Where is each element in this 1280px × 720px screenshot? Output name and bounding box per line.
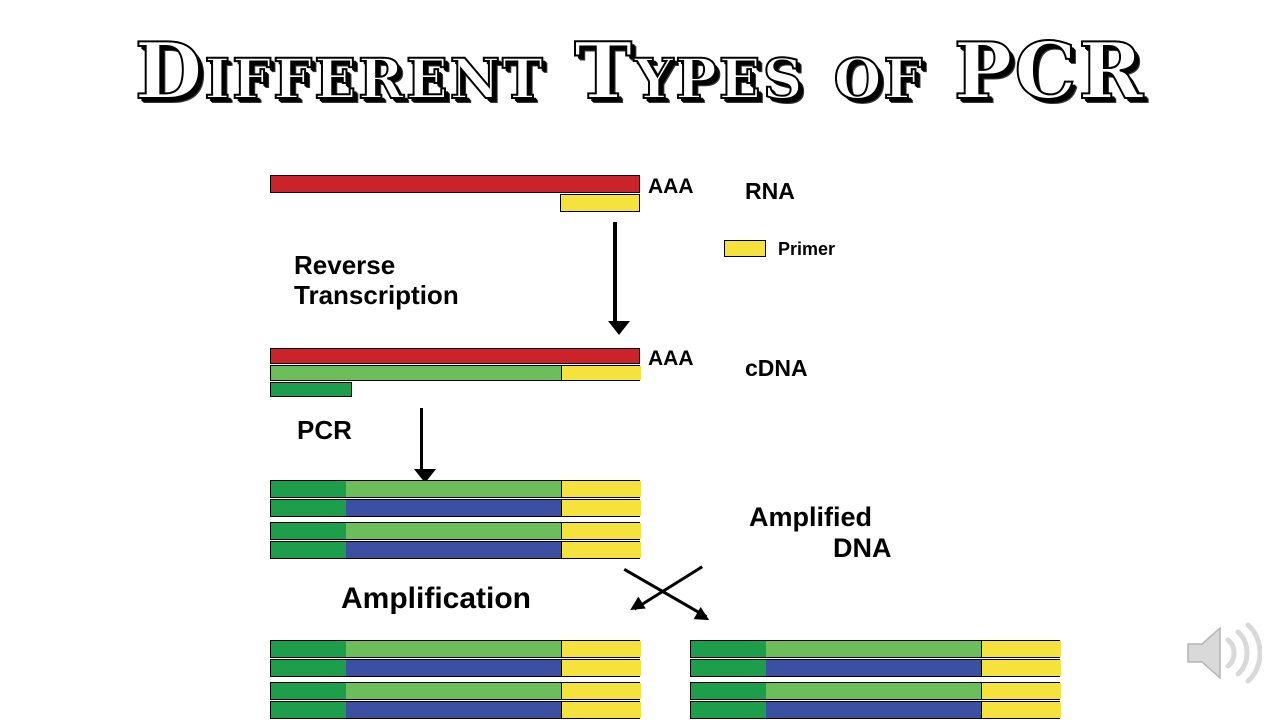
reverse-transcription-label-2: Transcription <box>294 280 459 311</box>
amplified-strand-1 <box>270 480 640 498</box>
amplified-strand-4-dark-green <box>271 542 346 558</box>
copy-left-strand-1 <box>270 640 640 658</box>
cdna-strand-red <box>270 348 640 364</box>
copy-left-strand-4 <box>270 701 640 719</box>
amplified-strand-3-primer <box>561 523 641 539</box>
amplified-dna-label-2: DNA <box>833 533 892 564</box>
amplified-strand-4 <box>270 541 640 559</box>
primer-legend-label: Primer <box>778 239 835 260</box>
copy-left-strand-1-primer <box>561 641 641 657</box>
amplification-label: Amplification <box>341 582 531 616</box>
pcr-arrow <box>420 408 423 470</box>
amplified-strand-3 <box>270 522 640 540</box>
copy-right-strand-2 <box>690 659 1060 677</box>
copy-left-strand-4-primer <box>561 702 641 718</box>
copy-left-strand-4-dark-green <box>271 702 346 718</box>
copy-left-strand-2-dark-green <box>271 660 346 676</box>
copy-right-strand-3 <box>690 682 1060 700</box>
copy-left-strand-1-dark-green <box>271 641 346 657</box>
copy-left-strand-2 <box>270 659 640 677</box>
cdna-primer-yellow <box>561 366 641 380</box>
pcr-label: PCR <box>297 415 352 446</box>
reverse-transcription-label-1: Reverse <box>294 250 395 281</box>
cdna-strand-green <box>270 365 640 381</box>
amplified-strand-1-primer <box>561 481 641 497</box>
amplified-strand-1-dark-green <box>271 481 346 497</box>
copy-right-strand-3-dark-green <box>691 683 766 699</box>
page-title: Different Types of PCR <box>0 30 1280 114</box>
copy-right-strand-1-dark-green <box>691 641 766 657</box>
cdna-polya-label: AAA <box>648 347 694 371</box>
amplified-dna-label-1: Amplified <box>749 502 872 533</box>
copy-left-strand-3-primer <box>561 683 641 699</box>
rna-polya-label: AAA <box>648 175 694 199</box>
copy-right-strand-2-dark-green <box>691 660 766 676</box>
copy-left-strand-3 <box>270 682 640 700</box>
amplified-strand-2-primer <box>561 500 641 516</box>
amplification-arrow-left <box>634 565 703 610</box>
speaker-icon[interactable] <box>1182 618 1262 688</box>
cdna-label: cDNA <box>745 355 808 382</box>
rna-primer-yellow <box>560 194 640 212</box>
copy-left-strand-2-primer <box>561 660 641 676</box>
amplified-strand-3-dark-green <box>271 523 346 539</box>
copy-left-strand-3-dark-green <box>271 683 346 699</box>
pcr-workflow-diagram: AAA RNA Primer Reverse Transcription AAA… <box>0 150 1280 720</box>
primer-legend-swatch <box>724 240 766 257</box>
amplified-strand-2-dark-green <box>271 500 346 516</box>
copy-right-strand-2-primer <box>981 660 1061 676</box>
copy-right-strand-4-dark-green <box>691 702 766 718</box>
cdna-strand-short-green <box>270 382 352 397</box>
rna-strand-red <box>270 175 640 193</box>
copy-right-strand-3-primer <box>981 683 1061 699</box>
copy-right-strand-4 <box>690 701 1060 719</box>
reverse-transcription-arrow <box>613 222 617 322</box>
amplified-strand-2 <box>270 499 640 517</box>
amplified-strand-4-primer <box>561 542 641 558</box>
rna-label: RNA <box>745 178 795 205</box>
copy-right-strand-1 <box>690 640 1060 658</box>
copy-right-strand-1-primer <box>981 641 1061 657</box>
copy-right-strand-4-primer <box>981 702 1061 718</box>
